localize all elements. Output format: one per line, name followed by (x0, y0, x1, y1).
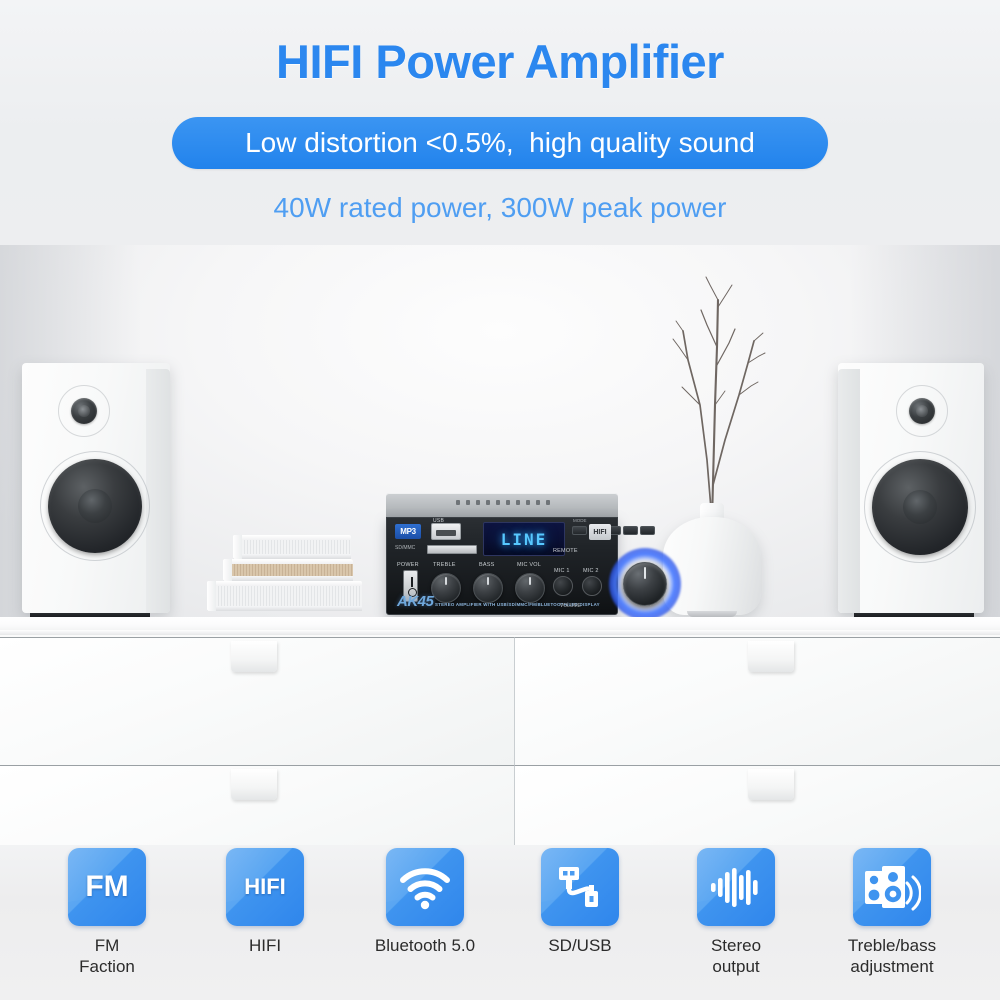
sd-slot-label: SD/MMC (395, 545, 415, 551)
page-title: HIFI Power Amplifier (0, 34, 1000, 89)
drawer-handle[interactable] (231, 769, 277, 800)
feature-fm-tile[interactable]: FM (68, 848, 146, 926)
book-bottom-cover (207, 581, 362, 586)
vent-hole (476, 500, 480, 505)
subtitle-pill: Low distortion <0.5%, high quality sound (172, 117, 828, 169)
feature-fm-label: FM Faction (79, 935, 135, 978)
mic1-jack[interactable] (553, 576, 573, 596)
feature-stereo: Stereo output (666, 848, 806, 978)
usb-cable-icon (553, 861, 607, 913)
left-speaker (22, 363, 170, 613)
drawer-bottom-right[interactable] (515, 765, 1000, 845)
vent-hole (506, 500, 510, 505)
mic1-jack-label: MIC 1 (554, 568, 570, 574)
left-woofer-dustcap (78, 489, 112, 523)
book-top-cover (233, 535, 351, 540)
power-switch-label: POWER (397, 562, 419, 568)
vent-hole (496, 500, 500, 505)
right-tweeter-dome (916, 405, 928, 417)
remote-sensor-label: REMOTE (553, 548, 578, 554)
fm-text-icon: FM (85, 870, 128, 904)
right-speaker (838, 363, 984, 613)
drawer-top-left[interactable] (0, 637, 515, 765)
drawer-top-right[interactable] (515, 637, 1000, 765)
feature-sd-usb: SD/USB (510, 848, 650, 956)
vent-hole (466, 500, 470, 505)
branch-group (655, 255, 785, 520)
subtitle-pill-text: Low distortion <0.5%, high quality sound (245, 127, 755, 159)
product-scene: MP3 USB SD/MMC LINE MODE HIFI POWER TREB… (0, 245, 1000, 845)
feature-hifi: HIFI HIFI (195, 848, 335, 956)
bass-knob[interactable] (473, 573, 503, 603)
right-speaker-side-panel (838, 369, 860, 613)
vent-hole (526, 500, 530, 505)
book-middle-cover (223, 559, 353, 564)
volume-label: VOLUME (560, 603, 581, 609)
book-bottom-spine (207, 581, 216, 611)
book-stack (205, 535, 365, 615)
hifi-badge: HIFI (589, 524, 611, 540)
feature-sd-usb-label: SD/USB (548, 935, 611, 956)
feature-hifi-tile[interactable]: HIFI (226, 848, 304, 926)
mode-button[interactable] (572, 526, 587, 535)
feature-strip: FM FM Faction HIFI HIFI Blu (0, 845, 1000, 1000)
right-woofer-dustcap (903, 490, 937, 524)
book-bottom (207, 581, 362, 611)
feature-sd-usb-tile[interactable] (541, 848, 619, 926)
mic-vol-knob-label: MIC VOL (517, 562, 541, 568)
bass-knob-label: BASS (479, 562, 494, 568)
hifi-text-icon: HIFI (244, 874, 286, 900)
feature-fm: FM FM Faction (37, 848, 177, 978)
book-middle (223, 559, 353, 581)
feature-bluetooth: Bluetooth 5.0 (355, 848, 495, 956)
feature-hifi-label: HIFI (249, 935, 281, 956)
left-tweeter-dome (78, 405, 90, 417)
drawer-handle[interactable] (231, 641, 277, 672)
amplifier-top-cover (386, 493, 618, 519)
drawer-handle[interactable] (748, 769, 794, 800)
book-top-spine (233, 535, 242, 559)
book-top (233, 535, 351, 559)
mp3-badge: MP3 (395, 524, 421, 539)
mic2-jack-label: MIC 2 (583, 568, 599, 574)
waveform-icon (709, 865, 763, 909)
feature-treble-bass-label: Treble/bass adjustment (848, 935, 936, 978)
feature-stereo-tile[interactable] (697, 848, 775, 926)
vent-hole (546, 500, 550, 505)
speakers-icon (863, 863, 921, 911)
lcd-display-text: LINE (501, 530, 548, 549)
feature-bluetooth-tile[interactable] (386, 848, 464, 926)
mic2-jack[interactable] (582, 576, 602, 596)
vent-hole (456, 500, 460, 505)
mode-button-label: MODE (573, 518, 587, 523)
vent-hole (486, 500, 490, 505)
usb-port[interactable] (431, 523, 461, 540)
feature-bluetooth-label: Bluetooth 5.0 (375, 935, 475, 956)
book-bottom-cover-bottom (207, 606, 362, 611)
amplifier-front-panel: MP3 USB SD/MMC LINE MODE HIFI POWER TREB… (386, 517, 618, 615)
next-button[interactable] (623, 526, 638, 535)
vent-hole (536, 500, 540, 505)
drawer-bottom-left[interactable] (0, 765, 515, 845)
left-speaker-side-panel (146, 369, 170, 613)
repeat-button[interactable] (640, 526, 655, 535)
branch-icon (655, 255, 785, 523)
mic-vol-knob[interactable] (515, 573, 545, 603)
feature-stereo-label: Stereo output (711, 935, 761, 978)
feature-treble-bass: Treble/bass adjustment (822, 848, 962, 978)
vent-hole (516, 500, 520, 505)
sd-card-slot[interactable] (427, 545, 477, 554)
amplifier: MP3 USB SD/MMC LINE MODE HIFI POWER TREB… (386, 493, 618, 615)
cabinet (0, 635, 1000, 845)
book-middle-spine (223, 559, 232, 581)
amplifier-brand: AK45 (397, 593, 433, 610)
treble-knob[interactable] (431, 573, 461, 603)
drawer-handle[interactable] (748, 641, 794, 672)
banner: HIFI Power Amplifier Low distortion <0.5… (0, 0, 1000, 245)
treble-knob-label: TREBLE (433, 562, 456, 568)
power-tagline: 40W rated power, 300W peak power (0, 192, 1000, 224)
volume-knob[interactable] (623, 562, 667, 606)
volume-knob-assembly[interactable] (609, 548, 681, 620)
wifi-icon (399, 864, 451, 910)
product-marketing-image: HIFI Power Amplifier Low distortion <0.5… (0, 0, 1000, 1000)
feature-treble-bass-tile[interactable] (853, 848, 931, 926)
